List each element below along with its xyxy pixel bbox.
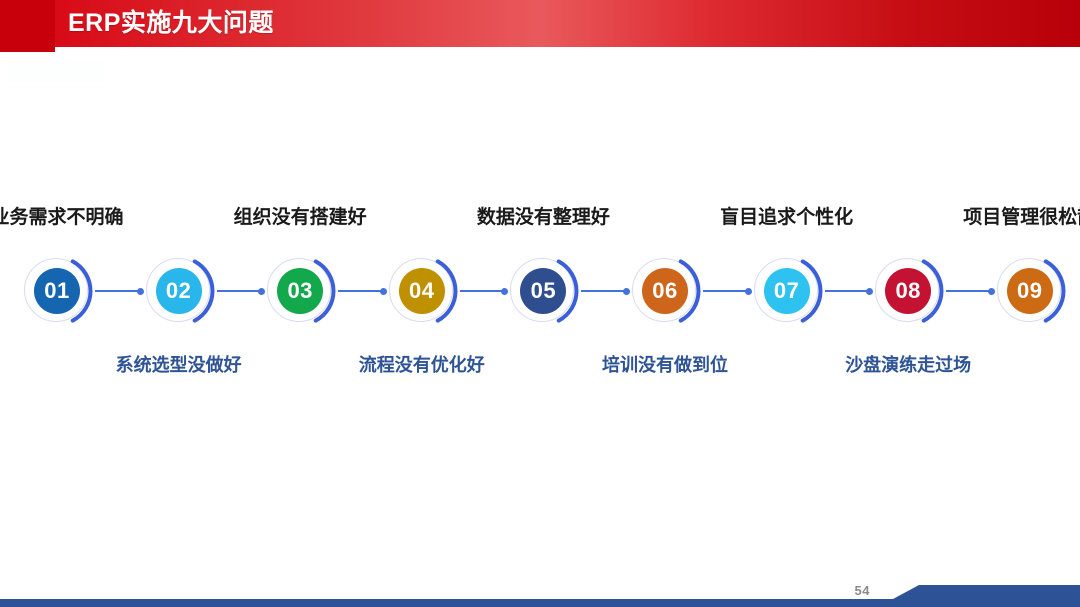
timeline-label-08: 沙盘演练走过场 bbox=[845, 351, 971, 377]
timeline-connector bbox=[95, 290, 141, 292]
node-number-badge: 03 bbox=[277, 268, 323, 314]
timeline-label-06: 培训没有做到位 bbox=[602, 351, 728, 377]
timeline-node-03[interactable]: 03 bbox=[262, 253, 338, 329]
timeline-node-08[interactable]: 08 bbox=[870, 253, 946, 329]
timeline-label-03: 组织没有搭建好 bbox=[234, 202, 367, 229]
timeline-connector bbox=[581, 290, 627, 292]
timeline-node-09[interactable]: 09 bbox=[992, 253, 1068, 329]
timeline-node-01[interactable]: 01 bbox=[19, 253, 95, 329]
timeline-node-05[interactable]: 05 bbox=[505, 253, 581, 329]
timeline-node-04[interactable]: 04 bbox=[384, 253, 460, 329]
timeline-label-02: 系统选型没做好 bbox=[116, 351, 242, 377]
slide-canvas: ERP实施九大问题 01业务需求不明确02系统选型没做好03组织没有搭建好04流… bbox=[0, 0, 1080, 607]
timeline-node-07[interactable]: 07 bbox=[749, 253, 825, 329]
timeline-diagram: 01业务需求不明确02系统选型没做好03组织没有搭建好04流程没有优化好05数据… bbox=[0, 0, 1080, 607]
node-number-badge: 09 bbox=[1007, 268, 1053, 314]
timeline-label-07: 盲目追求个性化 bbox=[720, 202, 853, 229]
timeline-connector bbox=[946, 290, 992, 292]
timeline-node-06[interactable]: 06 bbox=[627, 253, 703, 329]
page-number: 54 bbox=[855, 583, 870, 598]
timeline-connector bbox=[703, 290, 749, 292]
timeline-label-05: 数据没有整理好 bbox=[477, 202, 610, 229]
node-number-badge: 06 bbox=[642, 268, 688, 314]
footer-bar bbox=[0, 599, 1080, 607]
timeline-label-04: 流程没有优化好 bbox=[359, 351, 485, 377]
node-number-badge: 01 bbox=[34, 268, 80, 314]
node-number-badge: 07 bbox=[764, 268, 810, 314]
node-number-badge: 08 bbox=[885, 268, 931, 314]
timeline-node-02[interactable]: 02 bbox=[141, 253, 217, 329]
timeline-connector bbox=[825, 290, 871, 292]
timeline-label-09: 项目管理很松散 bbox=[963, 202, 1080, 229]
timeline-connector bbox=[217, 290, 263, 292]
node-number-badge: 04 bbox=[399, 268, 445, 314]
timeline-connector bbox=[338, 290, 384, 292]
timeline-label-01: 业务需求不明确 bbox=[0, 202, 124, 229]
timeline-connector bbox=[460, 290, 506, 292]
node-number-badge: 02 bbox=[156, 268, 202, 314]
